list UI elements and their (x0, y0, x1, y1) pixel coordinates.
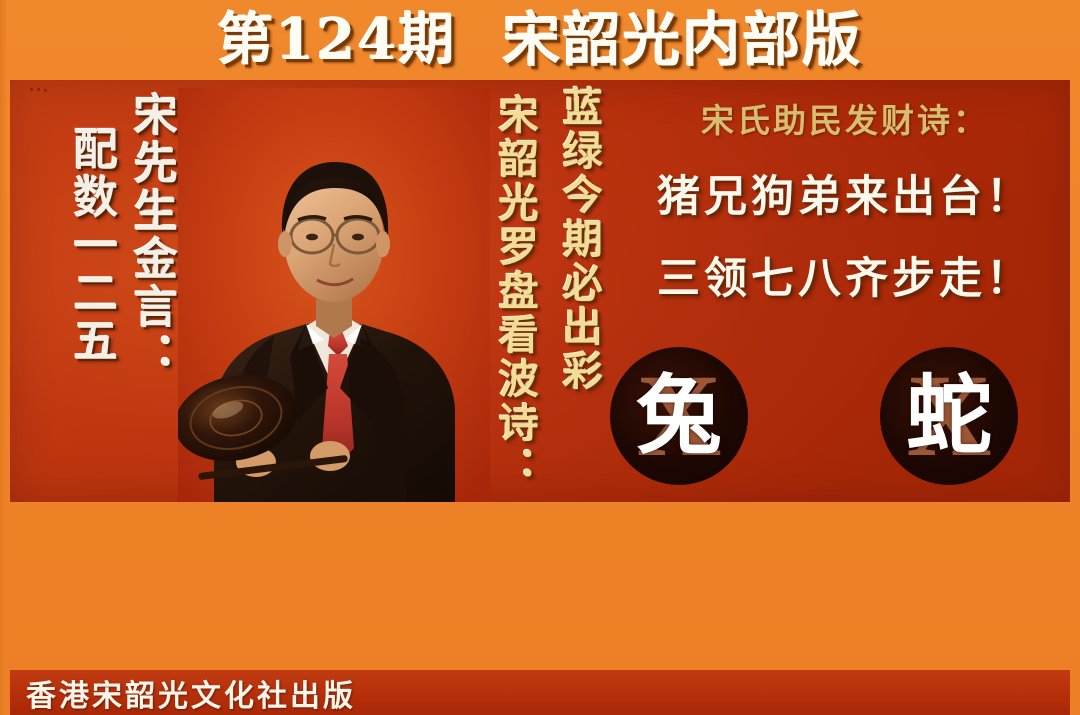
poem-line-2: 三领七八齐步走！ (630, 244, 1060, 306)
lottery-poster: 第124期 宋韶光内部版 配数一二五 宋先生金言： (0, 0, 1080, 715)
publisher-label: 香港宋韶光文化社出版 (10, 671, 356, 715)
poem-line-1: 猪兄狗弟来出台！ (630, 162, 1060, 224)
portrait-photo (178, 88, 490, 502)
column-lucky-numbers: 配数一二五 (68, 126, 113, 366)
poem-heading: 宋氏助民发财诗： (630, 94, 1060, 142)
artifact-speck (44, 89, 47, 92)
zodiac-medallion-rabbit[interactable]: X 兔 (610, 347, 748, 485)
column-color-forecast: 蓝绿今期必出彩 (558, 86, 599, 394)
zodiac-character: 蛇 (880, 347, 1018, 485)
poster-header: 第124期 宋韶光内部版 (0, 0, 1080, 80)
poem-block: 宋氏助民发财诗： 猪兄狗弟来出台！ 三领七八齐步走！ (630, 94, 1060, 306)
column-master-words: 宋先生金言： (128, 92, 173, 380)
artifact-speck (30, 88, 33, 91)
edition-title: 宋韶光内部版 (502, 11, 862, 69)
poster-footer: 香港宋韶光文化社出版 (10, 670, 1070, 715)
artifact-speck (37, 88, 40, 91)
issue-number: 第124期 (218, 12, 457, 68)
zodiac-character: 兔 (610, 347, 748, 485)
zodiac-medallion-snake[interactable]: X 蛇 (880, 347, 1018, 485)
column-compass-poem-label: 宋韶光罗盘看波诗： (494, 94, 535, 490)
main-panel: 配数一二五 宋先生金言： (10, 80, 1070, 502)
zodiac-medallion-group: X 兔 X 蛇 (610, 336, 1070, 496)
portrait-illustration (178, 88, 490, 502)
